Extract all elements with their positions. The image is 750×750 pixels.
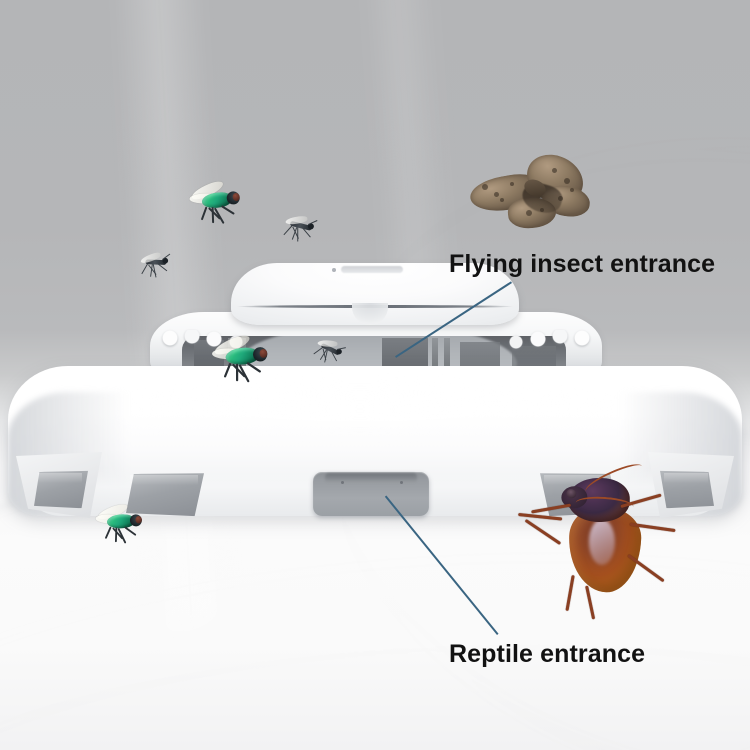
dome-lid-dot: [332, 268, 336, 272]
insect-mosquito: [280, 213, 316, 236]
moth-wing-speckle: [540, 208, 544, 212]
moth-wing-speckle: [552, 168, 557, 173]
moth-wing-speckle: [526, 210, 532, 216]
shoulder-knob-texture-right: [500, 330, 596, 356]
moth-wing-speckle: [510, 182, 514, 186]
insect-leg: [525, 519, 561, 545]
moth-wing-speckle: [558, 196, 563, 201]
reptile-panel-dot: [341, 481, 344, 484]
insect-leg: [124, 526, 136, 535]
moth-wing-speckle: [482, 184, 488, 190]
insect-leg: [212, 207, 214, 223]
insect-green-blowfly: [209, 335, 272, 378]
insect-leg: [531, 504, 571, 514]
product-diagram-scene: Flying insect entrance Reptile entrance: [0, 0, 750, 750]
insect-leg: [201, 207, 207, 221]
slot-vent-shine: [38, 473, 82, 483]
insect-leg: [224, 363, 231, 378]
insect-leg: [105, 527, 111, 539]
moth-wing-speckle: [494, 192, 499, 197]
insect-trap-device: [0, 0, 750, 750]
moth-wing-speckle: [564, 178, 570, 184]
callout-label-reptile-entrance: Reptile entrance: [449, 640, 645, 669]
slot-vent-shine: [130, 475, 198, 485]
moth-wing-speckle: [570, 188, 574, 192]
insect-moth: [466, 152, 598, 236]
reptile-panel-top-band: [325, 473, 417, 483]
insect-green-blowfly: [93, 505, 145, 540]
insect-mosquito: [136, 251, 170, 273]
cockroach-wing-sheen: [589, 519, 615, 565]
insect-leg: [247, 362, 262, 373]
slot-vent-shine: [664, 473, 708, 483]
insect-leg: [297, 227, 298, 241]
insect-leg: [221, 205, 235, 214]
moth-wing-speckle: [500, 198, 504, 202]
dome-lid-tab: [341, 266, 403, 273]
insect-leg: [237, 364, 239, 382]
insect-leg: [313, 347, 322, 354]
body-highlight: [60, 382, 660, 436]
callout-label-flying-insect-entrance: Flying insect entrance: [449, 250, 715, 279]
reptile-panel-dot: [400, 481, 403, 484]
insect-leg: [283, 226, 292, 236]
